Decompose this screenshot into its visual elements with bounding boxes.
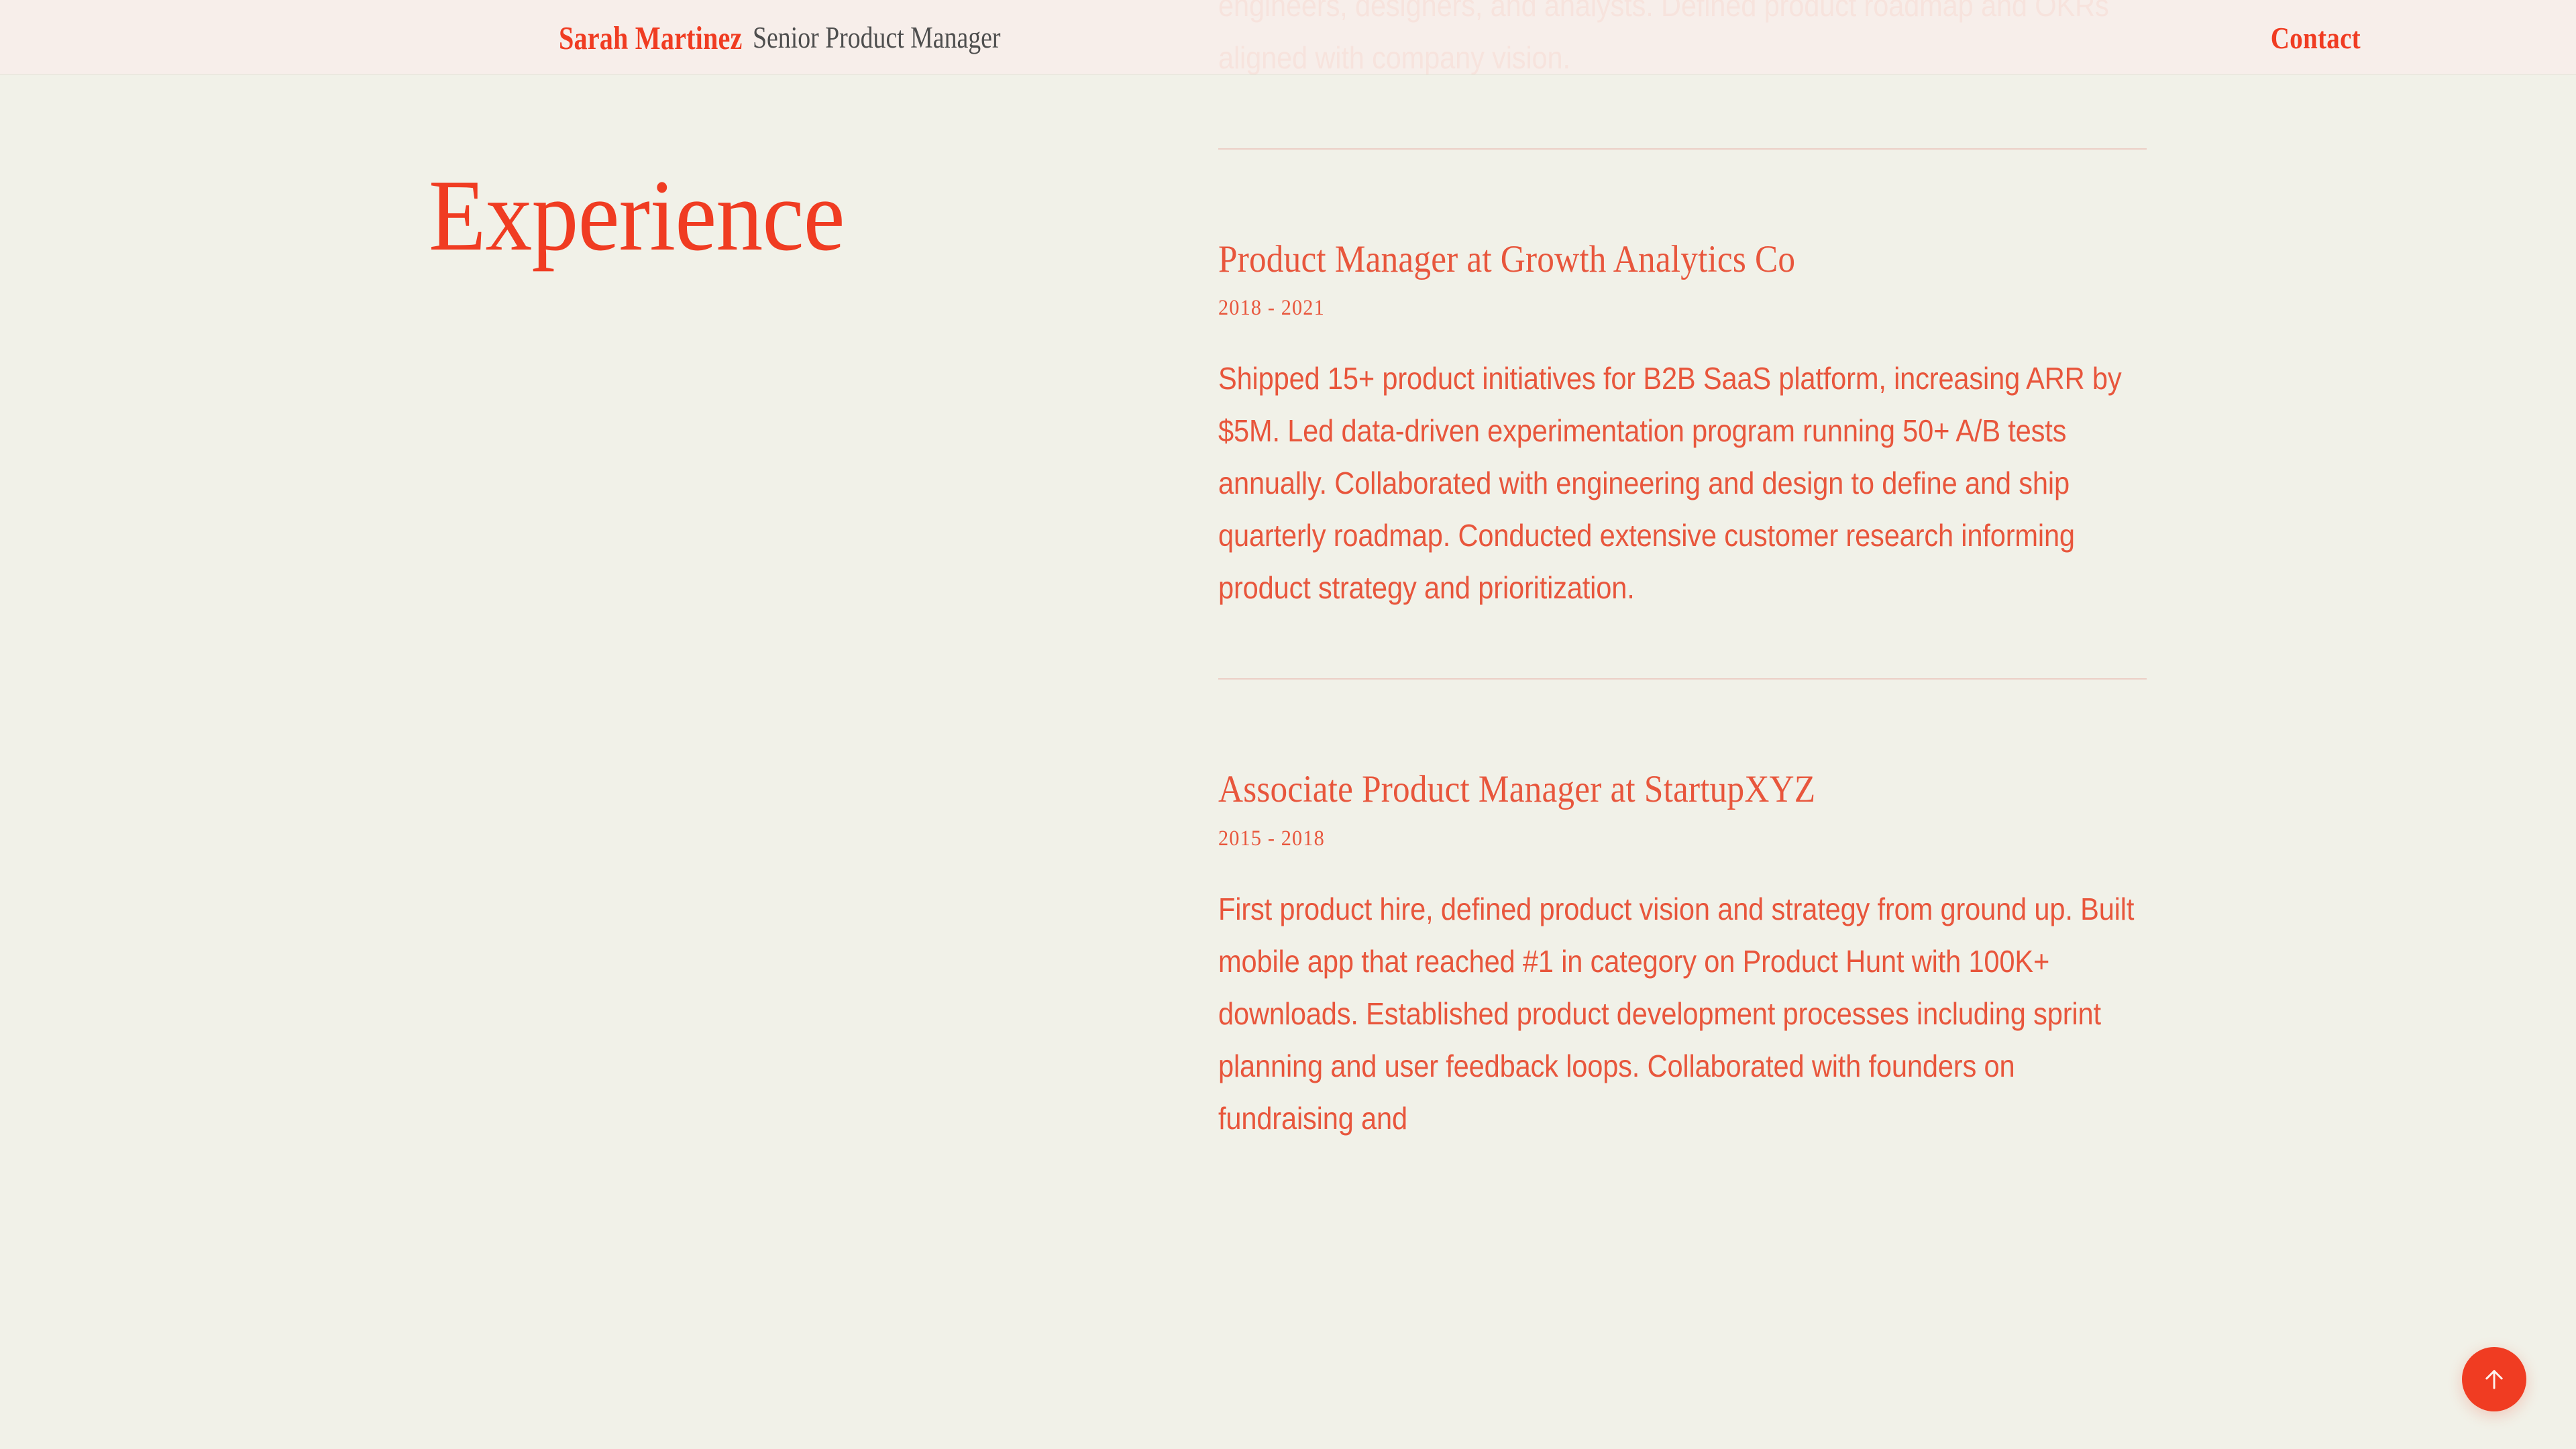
job-dates: 2018 - 2021 — [1218, 297, 2072, 319]
brand-role: Senior Product Manager — [753, 20, 1001, 55]
spacer — [1218, 614, 2147, 678]
page-root: Experience engineers, designers, and ana… — [0, 0, 2576, 1449]
page-content: Experience engineers, designers, and ana… — [0, 0, 2576, 1449]
nav-link-contact[interactable]: Contact — [2271, 0, 2361, 75]
brand[interactable]: Sarah Martinez Senior Product Manager — [559, 0, 1048, 75]
job-title: Associate Product Manager at StartupXYZ — [1218, 767, 2054, 812]
site-header: Sarah Martinez Senior Product Manager Co… — [0, 0, 2576, 75]
spacer — [1218, 84, 2147, 148]
brand-name[interactable]: Sarah Martinez — [559, 19, 742, 57]
job-dates: 2015 - 2018 — [1218, 828, 2072, 850]
experience-item-startupxyz: Associate Product Manager at StartupXYZ … — [1218, 767, 2147, 1144]
experience-item-growth-analytics: Product Manager at Growth Analytics Co 2… — [1218, 237, 2147, 614]
arrow-up-icon — [2480, 1365, 2508, 1393]
job-description: Shipped 15+ product initiatives for B2B … — [1218, 352, 2151, 614]
job-description: First product hire, defined product visi… — [1218, 883, 2151, 1144]
spacer — [1218, 150, 2147, 237]
spacer — [1218, 680, 2147, 767]
scroll-to-top-button[interactable] — [2462, 1347, 2526, 1411]
job-title: Product Manager at Growth Analytics Co — [1218, 237, 2054, 282]
experience-list: engineers, designers, and analysts. Defi… — [1218, 0, 2147, 1144]
page-title: Experience — [429, 164, 845, 266]
